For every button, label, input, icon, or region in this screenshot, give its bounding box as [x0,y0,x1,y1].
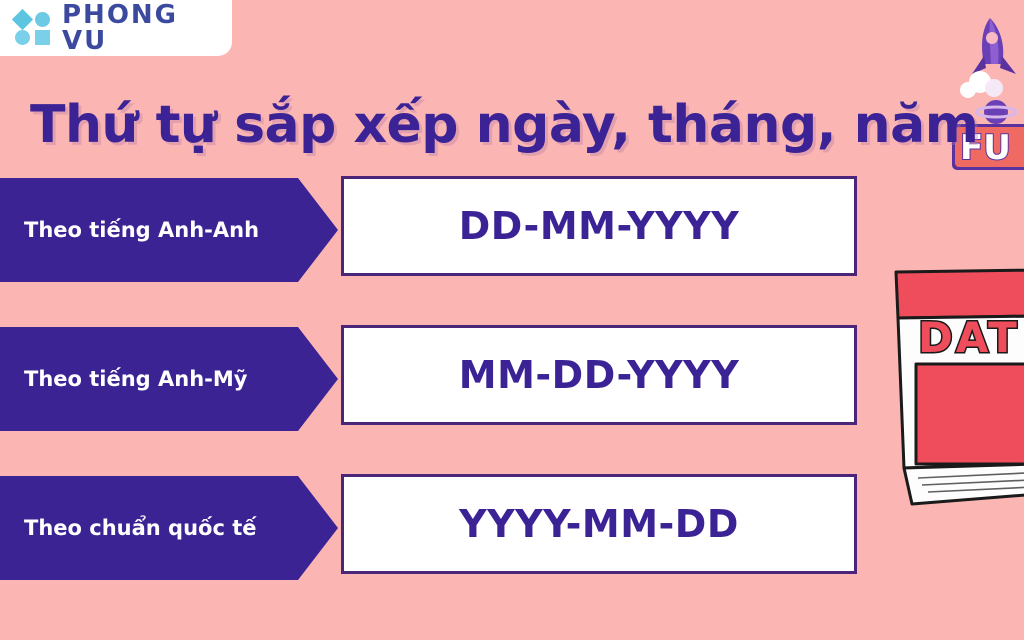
arrow-label-anh-anh: Theo tiếng Anh-Anh [0,178,338,282]
page-title: Thứ tự sắp xếp ngày, tháng, năm [30,97,930,154]
format-row: Theo tiếng Anh-Mỹ MM-DD-YYYY [0,325,1024,431]
format-box-text: MM-DD-YYYY [459,356,739,394]
infographic-canvas: FU DAT [0,0,1024,640]
format-box-quoc-te: YYYY-MM-DD [341,474,857,574]
brand-badge: PHONG VU [0,0,232,56]
logo-square-bottom-right-icon [35,30,50,45]
format-box-text: YYYY-MM-DD [459,505,739,543]
arrow-label-text: Theo tiếng Anh-Anh [0,220,269,241]
logo-diamond-icon [12,9,33,30]
four-shapes-logo-icon [14,11,54,45]
format-row: Theo chuẩn quốc tế YYYY-MM-DD [0,474,1024,580]
logo-circle-top-right-icon [35,12,50,27]
logo-circle-bottom-left-icon [15,30,30,45]
arrow-label-quoc-te: Theo chuẩn quốc tế [0,476,338,580]
format-box-text: DD-MM-YYYY [459,207,739,245]
format-box-anh-my: MM-DD-YYYY [341,325,857,425]
brand-name: PHONG VU [62,2,232,54]
arrow-label-text: Theo chuẩn quốc tế [0,518,267,539]
arrow-label-anh-my: Theo tiếng Anh-Mỹ [0,327,338,431]
format-row: Theo tiếng Anh-Anh DD-MM-YYYY [0,176,1024,282]
format-box-anh-anh: DD-MM-YYYY [341,176,857,276]
arrow-label-text: Theo tiếng Anh-Mỹ [0,369,257,390]
